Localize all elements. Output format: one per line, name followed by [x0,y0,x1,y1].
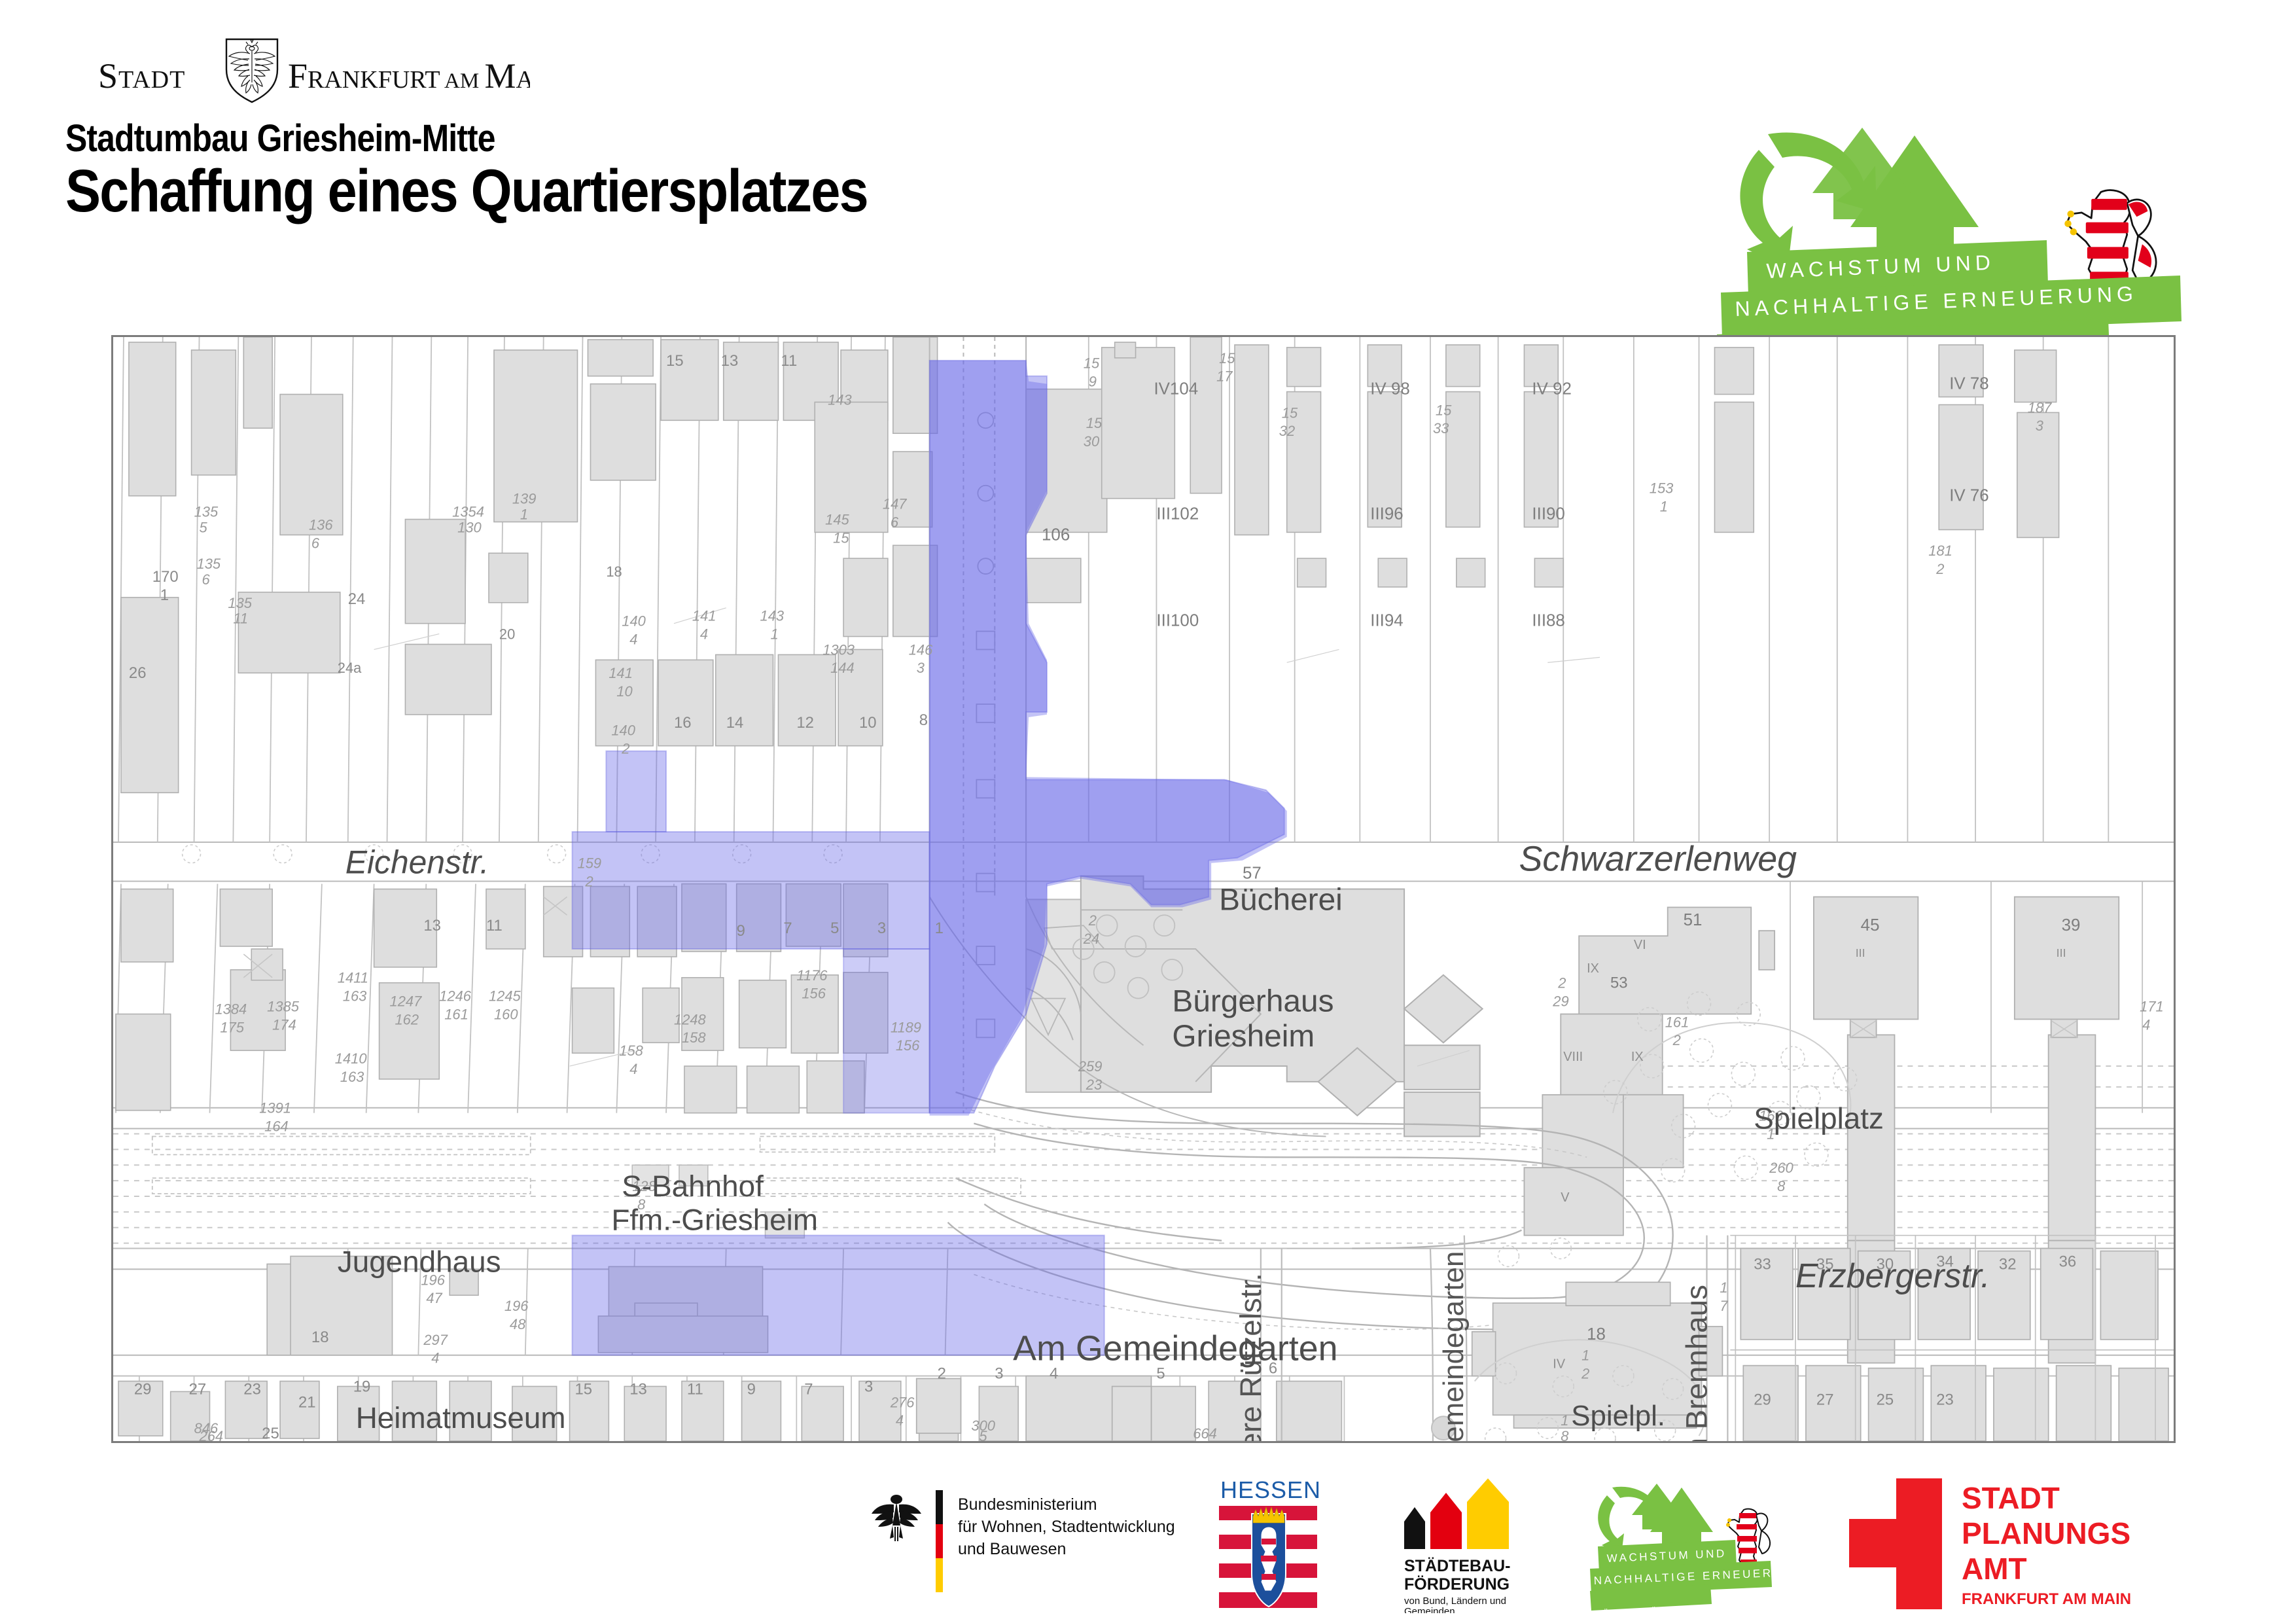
svg-text:15: 15 [666,352,684,370]
svg-text:3: 3 [877,919,886,937]
svg-text:1248: 1248 [674,1011,707,1027]
svg-text:156: 156 [896,1037,920,1054]
svg-text:2: 2 [584,874,593,890]
svg-text:15: 15 [1282,404,1298,421]
funding-logo-bar: Bundesministerium für Wohnen, Stadtentwi… [0,1476,2296,1623]
svg-text:6: 6 [202,571,211,588]
street-label-erzbergerstr: Erzbergerstr. [1795,1257,1990,1294]
logo-word-frankfurt: FRANKFURT AM MAIN [288,56,530,96]
svg-text:5: 5 [830,919,839,937]
svg-text:25: 25 [262,1425,279,1441]
svg-text:III96: III96 [1370,505,1403,524]
svg-text:1: 1 [770,626,778,643]
svg-text:1: 1 [520,507,528,523]
svg-text:29: 29 [134,1380,152,1398]
flag-black [936,1490,943,1524]
svg-text:15: 15 [1219,350,1235,366]
svg-text:4: 4 [629,632,637,648]
hessen-logo-svg: HESSEN [1214,1476,1325,1613]
svg-text:27: 27 [1816,1391,1834,1408]
svg-text:1189: 1189 [891,1019,921,1035]
svg-text:15: 15 [1086,415,1103,431]
svg-text:1385: 1385 [267,999,300,1015]
place-label-jugendhaus: Jugendhaus [338,1245,501,1278]
staedtebau-line-3: von Bund, Ländern und [1404,1596,1506,1607]
place-label-s-bahnhof: S-Bahnhof [622,1169,764,1203]
flag-gold [936,1558,943,1592]
svg-text:259: 259 [1078,1058,1103,1075]
stadtplanungsamt-logo-svg: STADT PLANUNGS AMT FRANKFURT AM MAIN [1845,1476,2185,1613]
bmwsb-logo: Bundesministerium für Wohnen, Stadtentwi… [870,1476,1197,1616]
svg-text:163: 163 [343,988,367,1005]
svg-text:140: 140 [622,613,646,630]
svg-text:264: 264 [199,1428,224,1441]
svg-text:27: 27 [189,1380,207,1398]
street-label-am-gemeindegarten-vertical: Am Gemeindegarten [1438,1251,1470,1441]
svg-text:16: 16 [674,714,692,732]
svg-text:III100: III100 [1156,612,1199,630]
hessen-wordmark: HESSEN [1220,1476,1321,1503]
svg-text:21: 21 [298,1393,316,1411]
svg-text:3: 3 [995,1365,1003,1383]
svg-text:IX: IX [1631,1050,1644,1064]
svg-text:135: 135 [194,504,219,520]
svg-text:1246: 1246 [439,988,472,1005]
svg-text:IV 78: IV 78 [1949,375,1988,393]
place-label-griesheim: Griesheim [1172,1019,1315,1054]
svg-text:12: 12 [796,714,814,732]
frankfurt-eagle-icon [226,39,277,102]
svg-text:161: 161 [1665,1014,1689,1030]
svg-text:39: 39 [2062,916,2081,935]
staedtebau-line-2: FÖRDERUNG [1404,1575,1510,1594]
svg-text:2: 2 [1557,975,1566,991]
svg-text:153: 153 [1650,480,1674,497]
three-houses-icon [1404,1478,1509,1549]
staedtebau-logo-svg: STÄDTEBAU- FÖRDERUNG von Bund, Ländern u… [1394,1476,1564,1613]
svg-text:IV 98: IV 98 [1370,380,1409,399]
svg-text:162: 162 [395,1011,419,1027]
spa-mark-icon [1849,1478,1942,1609]
green-house-icon [1812,128,1979,249]
parcel-label: 24a [338,660,362,676]
bmwsb-line-2: für Wohnen, Stadtentwicklung [958,1518,1175,1536]
svg-text:146: 146 [909,641,933,658]
svg-text:3: 3 [2036,418,2043,434]
svg-text:171: 171 [2140,999,2164,1015]
svg-text:2: 2 [621,741,629,757]
svg-text:23: 23 [1086,1077,1102,1093]
street-label-am-gemeindegarten: Am Gemeindegarten [1013,1329,1337,1368]
svg-text:11: 11 [687,1380,703,1398]
svg-text:181: 181 [1928,543,1952,559]
spa-line-4: FRANKFURT AM MAIN [1962,1590,2131,1608]
svg-text:1384: 1384 [215,1001,247,1017]
svg-text:15: 15 [1084,355,1100,372]
svg-text:164: 164 [264,1118,289,1135]
place-label-spielpl: Spielpl. [1571,1400,1665,1432]
svg-text:2: 2 [1672,1032,1681,1048]
svg-text:3: 3 [864,1378,873,1395]
svg-text:10: 10 [616,683,632,700]
svg-text:260: 260 [1769,1160,1793,1176]
svg-text:29: 29 [1552,993,1568,1010]
svg-text:1247: 1247 [390,993,423,1010]
spa-line-2: PLANUNGS [1962,1516,2130,1550]
place-label-ffm-griesheim: Ffm.-Griesheim [611,1204,818,1237]
project-subtitle: Stadtumbau Griesheim-Mitte [65,116,495,160]
svg-text:145: 145 [825,511,849,527]
svg-text:2: 2 [1088,912,1097,929]
svg-text:196: 196 [504,1298,529,1314]
parcel-label: 20 [499,626,515,643]
svg-text:15: 15 [575,1380,593,1398]
svg-text:2: 2 [1935,561,1944,577]
svg-text:5: 5 [979,1428,987,1441]
parcel-label: 26 [129,664,147,682]
page-title: Schaffung eines Quartiersplatzes [65,157,868,226]
hessen-coat-of-arms-icon [1219,1506,1317,1611]
cadastral-map[interactable]: 24 136 6 24a 26 20 18 140 4 141 10 140 2… [111,335,2176,1443]
bmwsb-line-3: und Bauwesen [958,1540,1066,1558]
svg-text:9: 9 [1089,374,1097,390]
spa-line-3: AMT [1962,1552,2027,1586]
svg-text:141: 141 [692,608,716,624]
svg-text:174: 174 [272,1016,296,1033]
place-label-buecherei: Bücherei [1219,882,1343,917]
svg-text:III: III [1856,946,1865,959]
svg-text:III94: III94 [1370,612,1403,630]
svg-text:18: 18 [1587,1325,1606,1344]
svg-text:33: 33 [1754,1255,1771,1273]
svg-text:1410: 1410 [335,1050,367,1067]
svg-text:IV104: IV104 [1154,380,1198,399]
svg-text:17: 17 [1216,368,1233,385]
svg-text:139: 139 [512,491,537,507]
svg-text:30: 30 [1084,433,1099,450]
svg-text:10: 10 [859,714,877,732]
svg-text:III102: III102 [1156,505,1199,524]
staedtebau-line-4: Gemeinden [1404,1606,1455,1613]
svg-text:1391: 1391 [259,1100,291,1116]
svg-text:13: 13 [423,917,441,935]
parcel-label: 24 [348,590,366,608]
svg-text:1411: 1411 [338,970,368,986]
svg-text:2: 2 [938,1365,946,1383]
svg-text:47: 47 [426,1290,442,1306]
svg-text:1: 1 [160,586,169,604]
svg-text:57: 57 [1243,865,1262,883]
place-label-buergerhaus: Bürgerhaus [1172,984,1333,1019]
svg-text:143: 143 [760,608,785,624]
stadtplanungsamt-logo: STADT PLANUNGS AMT FRANKFURT AM MAIN [1845,1476,2185,1616]
staedtebaufoerderung-logo: STÄDTEBAU- FÖRDERUNG von Bund, Ländern u… [1394,1476,1564,1616]
svg-text:48: 48 [510,1316,526,1332]
place-label-spielplatz: Spielplatz [1754,1102,1884,1135]
staedtebau-line-1: STÄDTEBAU- [1404,1557,1511,1575]
svg-text:III: III [2057,946,2066,959]
svg-text:IX: IX [1587,961,1599,976]
svg-text:V: V [1561,1190,1570,1205]
street-label-eichenstr: Eichenstr. [345,844,489,881]
svg-text:9: 9 [747,1380,756,1398]
svg-text:53: 53 [1610,974,1628,992]
bundesadler-icon [872,1495,921,1541]
svg-text:2: 2 [1581,1366,1589,1382]
street-label-schwarzerlenweg: Schwarzerlenweg [1519,840,1797,879]
svg-text:140: 140 [611,722,635,739]
svg-text:1: 1 [1720,1279,1727,1296]
spa-line-1: STADT [1962,1481,2060,1515]
svg-text:6: 6 [891,514,899,530]
svg-text:11: 11 [781,352,797,370]
svg-text:170: 170 [152,568,179,586]
svg-text:4: 4 [896,1412,904,1429]
svg-text:VIII: VIII [1563,1050,1583,1064]
hessen-logo: HESSEN [1214,1476,1325,1616]
svg-text:36: 36 [2059,1253,2077,1270]
svg-text:1: 1 [1561,1412,1568,1429]
svg-text:135: 135 [197,556,221,572]
svg-text:1354: 1354 [452,504,484,520]
svg-text:4: 4 [431,1350,439,1366]
parcel-label: 18 [606,563,622,580]
bmwsb-logo-svg: Bundesministerium für Wohnen, Stadtentwi… [870,1476,1197,1613]
svg-text:4: 4 [2142,1016,2150,1033]
svg-text:276: 276 [890,1394,915,1410]
stadt-frankfurt-logo: STADT [98,34,530,106]
svg-text:159: 159 [578,855,602,872]
svg-text:1: 1 [1660,499,1668,515]
svg-text:163: 163 [340,1069,364,1085]
parcel-label: 136 [309,516,333,533]
svg-text:51: 51 [1684,911,1703,929]
wachstum-footer-svg: WACHSTUM UND NACHHALTIGE ERNEUERUNG STÄD… [1590,1476,1812,1613]
svg-text:1: 1 [935,919,944,937]
green-house-icon-small [1632,1484,1713,1544]
svg-text:33: 33 [1433,420,1449,437]
svg-text:11: 11 [233,611,248,627]
svg-text:15: 15 [1436,402,1452,418]
svg-text:19: 19 [353,1378,371,1395]
svg-text:143: 143 [828,391,852,408]
svg-text:664: 664 [1193,1425,1217,1441]
svg-text:VI: VI [1634,938,1646,952]
svg-text:7: 7 [1720,1298,1728,1314]
svg-text:158: 158 [682,1029,706,1046]
svg-text:1: 1 [1581,1347,1589,1364]
map-label-layer: 24 136 6 24a 26 20 18 140 4 141 10 140 2… [113,337,2174,1441]
svg-text:18: 18 [311,1329,329,1346]
svg-text:8: 8 [919,711,928,729]
map-inner: 24 136 6 24a 26 20 18 140 4 141 10 140 2… [113,337,2174,1441]
svg-text:23: 23 [1936,1391,1954,1408]
svg-text:187: 187 [2028,399,2052,416]
logo-word-stadt: STADT [98,56,185,96]
svg-text:32: 32 [1279,423,1295,439]
svg-text:IV 92: IV 92 [1532,380,1571,399]
svg-text:14: 14 [726,714,744,732]
street-label-am-brennhaus: Am Brennhaus [1680,1285,1713,1441]
wachstum-footer-logo: WACHSTUM UND NACHHALTIGE ERNEUERUNG STÄD… [1590,1476,1812,1616]
bmwsb-line-1: Bundesministerium [958,1495,1097,1514]
svg-text:25: 25 [1877,1391,1894,1408]
svg-text:175: 175 [220,1019,244,1035]
svg-text:144: 144 [830,660,855,676]
svg-text:45: 45 [1861,916,1880,935]
svg-text:13: 13 [629,1380,647,1398]
svg-text:9: 9 [737,922,745,940]
svg-text:23: 23 [243,1380,261,1398]
svg-text:III90: III90 [1532,505,1564,524]
svg-text:III88: III88 [1532,612,1564,630]
svg-text:161: 161 [444,1006,468,1022]
svg-text:8: 8 [1777,1178,1786,1194]
flag-red [936,1524,943,1558]
stadt-frankfurt-logo-svg: STADT [98,34,530,106]
svg-text:106: 106 [1042,526,1070,544]
svg-text:158: 158 [619,1043,643,1059]
svg-text:4: 4 [629,1061,637,1077]
svg-text:156: 156 [802,986,826,1002]
svg-text:1245: 1245 [489,988,521,1005]
svg-text:13: 13 [721,352,739,370]
svg-text:24: 24 [1083,931,1099,947]
svg-text:IV 76: IV 76 [1949,487,1988,505]
svg-text:130: 130 [457,519,482,535]
svg-text:297: 297 [423,1332,448,1348]
svg-text:3: 3 [917,660,925,676]
svg-text:1176: 1176 [796,967,828,984]
svg-text:4: 4 [700,626,708,643]
svg-text:11: 11 [486,917,503,935]
svg-text:15: 15 [833,529,849,546]
place-label-heimatmuseum: Heimatmuseum [356,1401,566,1435]
svg-text:135: 135 [228,595,252,611]
svg-text:5: 5 [200,519,208,535]
svg-text:1303: 1303 [822,641,855,658]
svg-text:32: 32 [1999,1255,2017,1273]
svg-text:29: 29 [1754,1391,1771,1408]
svg-text:8: 8 [1561,1428,1569,1441]
svg-text:141: 141 [609,665,633,681]
parcel-label: 6 [311,535,320,551]
svg-text:147: 147 [883,496,907,512]
svg-text:7: 7 [804,1380,813,1398]
svg-text:160: 160 [494,1006,518,1022]
svg-text:7: 7 [783,919,792,937]
svg-text:IV: IV [1553,1357,1566,1372]
